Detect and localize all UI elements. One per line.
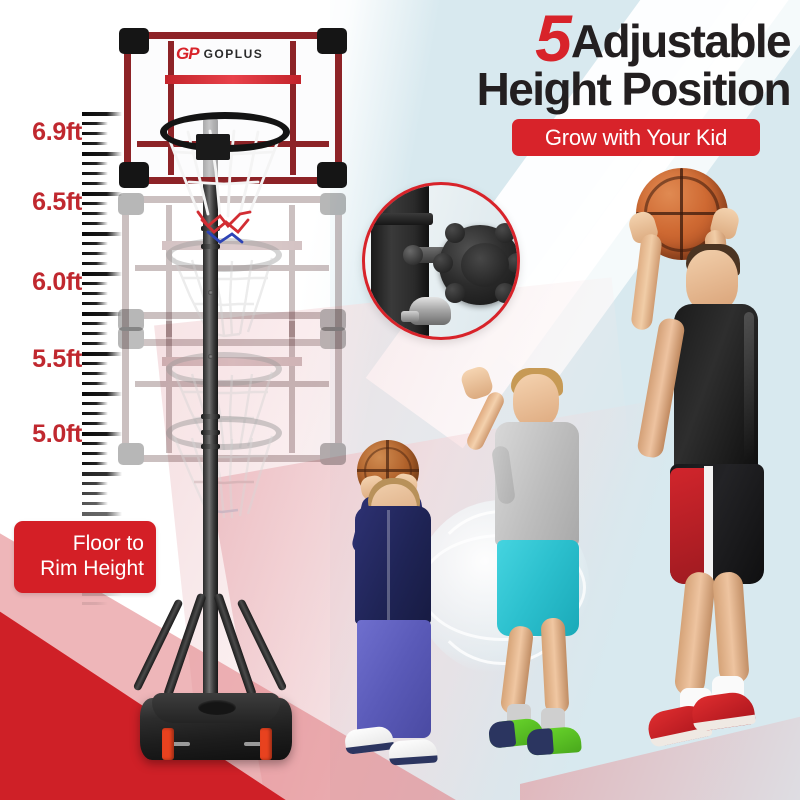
ruler-label-5-0ft: 5.0ft [32,420,82,449]
product-marketing-image: 5 Adjustable Height Position Grow with Y… [0,0,800,800]
ruler-label-6-9ft: 6.9ft [32,118,82,147]
adult-head [686,250,738,312]
toddler-jacket-zipper [387,510,390,622]
brand-logo: GP GOPLUS [176,44,263,64]
net-ghost-position-2 [168,430,282,540]
adult-arm-left [630,233,663,331]
fill-cap [198,700,236,715]
headline-line-2: Height Position [430,66,790,113]
adult-player [600,168,800,778]
adult-shorts-stripe [704,466,713,584]
toddler-pants [357,620,431,738]
transport-wheel-left [162,728,174,760]
boy-shorts [497,540,579,636]
net-ghost-position-4 [168,252,282,348]
brand-name: GOPLUS [204,47,264,61]
adult-leg-left [674,571,717,697]
inset-collar [371,213,433,225]
ruler-label-group: 6.9ft 6.5ft 6.0ft 5.5ft 5.0ft [0,0,82,800]
toddler-jacket [355,506,431,624]
boy-head [513,374,559,428]
toddler-player [335,440,465,780]
headline-line-1: Adjustable [571,18,790,64]
inset-pin [403,245,423,265]
grow-with-your-kid-badge: Grow with Your Kid [512,119,760,156]
ruler-label-5-5ft: 5.5ft [32,345,82,374]
adult-leg-right [712,571,750,685]
boy-leg-left [500,625,535,715]
older-child-player [455,368,605,788]
headline-number: 5 [535,9,569,67]
floor-badge-line-1: Floor to [24,532,144,557]
boy-leg-right [541,617,570,714]
brand-mark-gp: GP [176,44,199,64]
ruler-label-6-5ft: 6.5ft [32,188,82,217]
boy-shoe-right [526,726,582,756]
adjustment-knob-icon [439,225,520,305]
floor-to-rim-height-badge: Floor to Rim Height [14,521,156,593]
locking-bolt-icon [409,297,451,325]
ruler-label-6-0ft: 6.0ft [32,268,82,297]
toddler-shoe-right [388,738,438,765]
rim-mounting-plate [196,134,230,160]
toddler-shoe-left [344,725,395,755]
headline-block: 5 Adjustable Height Position [430,6,790,113]
adult-tank-top [674,304,758,474]
transport-wheel-right [260,728,272,760]
weighted-base [140,690,292,772]
knob-detail-inset [362,182,520,340]
grow-badge-label: Grow with Your Kid [545,125,727,151]
floor-badge-line-2: Rim Height [24,557,144,582]
